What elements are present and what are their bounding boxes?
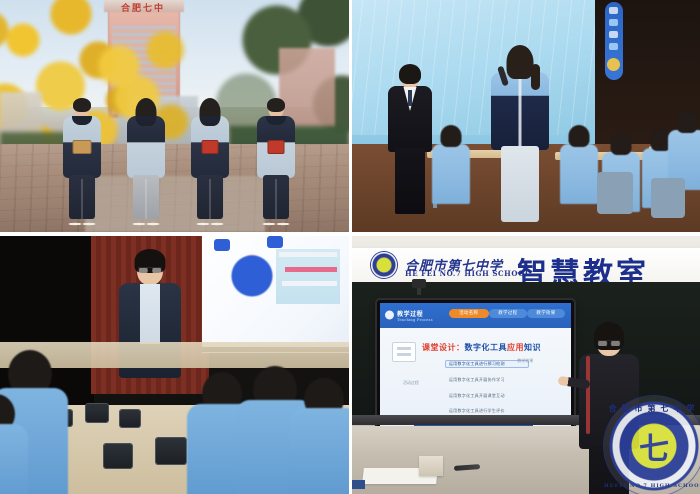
document-icon [392,342,416,362]
toolbar-icon-4 [609,43,618,50]
panel-classroom-qa [349,0,700,232]
student-4 [256,101,296,226]
slide-header-subtitle: Teaching Process [397,318,433,322]
tablet [86,404,108,422]
school-emblem-watermark: 合肥市第七中学 七 HEFEI NO.7 HIGH SCHOOL [604,396,700,494]
student-1 [62,101,102,226]
slide-text-line-1 [279,252,338,257]
shoes [68,220,96,228]
hair [399,64,421,84]
seated-student-2 [559,128,599,206]
thought-bubble-icon [267,236,283,248]
title-end: 知识 [524,343,541,352]
hair [569,125,590,147]
hair [507,45,534,79]
uniform [289,408,349,494]
student-3 [190,101,230,226]
hair [267,98,285,112]
banner-school-name-en: HE FEI NO.7 HIGH SCHOOL [405,269,530,278]
emblem-text-cn: 合肥市第七中学 [604,403,700,414]
toolbar-icon-1 [609,7,618,14]
legs [197,175,223,219]
slide-header: 教学过程 Teaching Process 活动名称 教学过程 教学效果 [380,303,571,328]
school-logo-icon [371,252,397,278]
legs [133,175,159,219]
slide-logo-icon [385,311,394,320]
emblem-text-en: HEFEI NO.7 HIGH SCHOOL [604,483,700,489]
panel-tablet-lesson [0,232,349,494]
uniform [0,424,28,494]
chair [651,178,685,218]
horizontal-divider [0,232,700,236]
slide-pill-3[interactable]: 教学效果 [527,309,565,318]
uniform [560,144,598,204]
student-speaking [489,46,551,226]
hair [611,133,632,155]
glasses-icon [598,340,621,346]
vertical-divider [349,0,352,494]
board-toolbar [605,2,623,80]
legs [263,175,289,219]
glasses-icon [138,267,162,273]
brain-graphic-icon [223,244,281,302]
held-book [74,141,91,153]
box [419,456,443,476]
shoes [262,220,290,228]
slide-text-line-3 [282,281,338,286]
legs [69,175,95,219]
slide-header-title: 教学过程 [397,309,423,318]
pants [501,146,539,222]
toolbar-icon-record [607,58,620,71]
panel-campus-walk: 合肥七中 [0,0,349,232]
slide-text-line-2 [285,267,338,272]
camera-icon [412,279,426,288]
photo-collage: 合肥七中 [0,0,700,494]
tablet [104,444,132,468]
student-foreground-5 [292,378,349,494]
hair [441,125,462,147]
slide-side-label-left: 活动过程 [403,380,419,386]
panel-smart-classroom: 合肥市第七中学 HE FEI NO.7 HIGH SCHOOL 智慧教室 教学过… [349,232,700,494]
title-tail: 应用 [507,343,524,352]
jacket-stripe [586,356,590,434]
shoes [132,220,160,228]
shoes [196,220,224,228]
teacher-presenting [118,254,182,424]
shirt [140,284,160,344]
slide-row-3[interactable]: 运用数字化工具开展课堂互动 [445,392,529,400]
slide-main-title: 课堂设计：数字化工具应用知识 [422,342,541,353]
title-lead: 课堂设计： [422,343,465,352]
teacher-standing [387,68,433,218]
toolbar-icon-3 [609,31,618,38]
projection-slide [202,232,349,353]
uniform-jacket [491,72,549,150]
slide-row-2[interactable]: 运用数字化工具开展协作学习 [445,376,529,384]
hair [677,111,698,133]
held-book [203,141,218,153]
toolbar-icon-2 [609,19,618,26]
tablet [156,438,186,464]
held-book [269,141,284,153]
seated-student-1 [431,128,471,206]
tablet [120,410,140,427]
uniform [432,144,470,204]
hair [73,98,91,112]
slide-side-label-right: 教学效果 [517,358,533,364]
wall-banner: 合肥市第七中学 HE FEI NO.7 HIGH SCHOOL 智慧教室 [349,248,700,282]
pants [395,148,425,214]
slide-pill-1[interactable]: 活动名称 [449,309,489,318]
slide-pill-2[interactable]: 教学过程 [489,309,527,318]
thought-bubble-icon [214,239,230,251]
emblem-mark: 七 [639,424,669,468]
chair [597,172,633,214]
center-path [85,176,265,232]
student-2 [126,101,166,226]
student-foreground-2 [0,394,26,494]
title-mid: 数字化工具 [464,343,507,352]
smart-board-screen[interactable]: 教学过程 Teaching Process 活动名称 教学过程 教学效果 课堂设… [380,303,571,433]
slide-row-1[interactable]: 运用数字化工具进行预习检测 [445,360,529,368]
slide-row-4[interactable]: 运用数字化工具进行学生评价 [445,407,529,415]
tie [408,90,412,106]
